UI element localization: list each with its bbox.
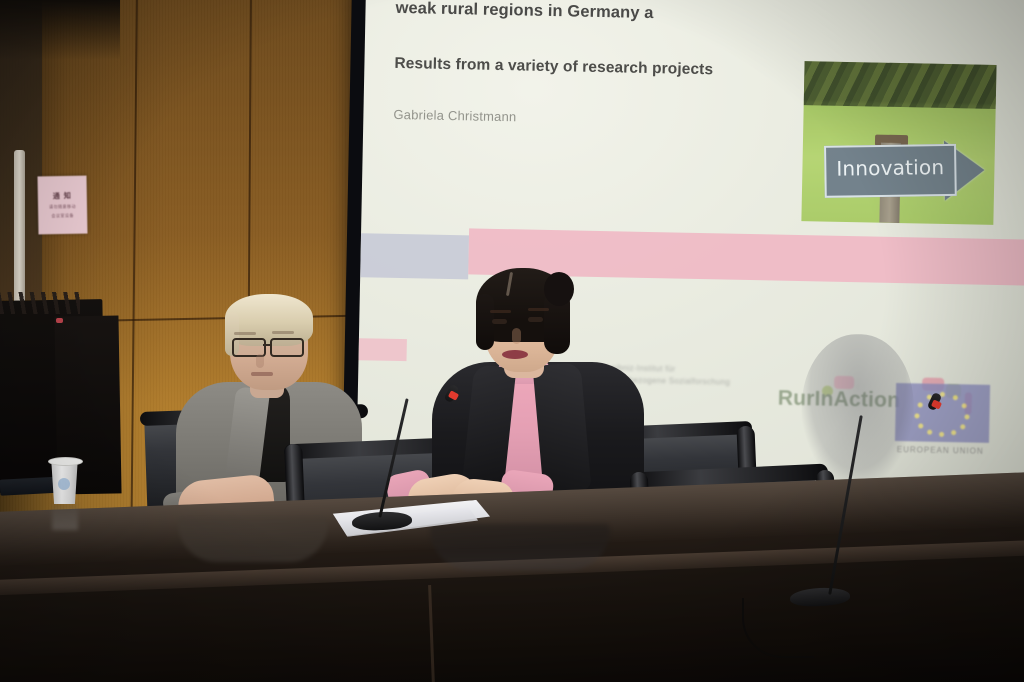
lens [270,338,304,357]
table-reflection-speaker [430,524,610,570]
table-reflection-cup [52,504,78,530]
eyebrow [234,332,256,335]
hedge-background [804,61,997,109]
slide-author: Gabriela Christmann [393,107,516,124]
slide-subtitle: Results from a variety of research proje… [394,55,864,82]
poster-line-1: 请勿随意移动 [49,204,76,210]
presenter-shadow-on-screen [800,333,915,485]
ceiling-shadow [0,0,120,60]
paper-cup-rim [48,457,83,466]
eyebrow [490,310,511,313]
cable-connector [56,318,63,323]
slide-title-line-2: weak rural regions in Germany a [395,0,865,30]
hair-bun [544,272,574,306]
eye [492,319,507,324]
eyeglasses-icon [230,338,306,353]
slide-title: On th weak rural regions in Germany a [395,0,866,30]
wall-seam [130,0,138,560]
mouth [251,372,273,376]
glasses-bridge [263,344,271,346]
innovation-photo: Innovation [801,61,996,225]
eyebrow [528,308,549,311]
poster-line-2: 会议室设备 [51,213,74,219]
innovation-signboard: Innovation [824,144,957,198]
nose [512,328,521,344]
poster-title: 通 知 [53,191,72,201]
nose [256,354,264,368]
table-reflection-person-left [178,518,328,562]
mouth [502,350,528,359]
paper-cup-logo [58,478,70,490]
eye [528,317,543,322]
wall-notice-poster: 通 知 请勿随意移动 会议室设备 [37,176,87,235]
eyebrow [272,331,294,334]
innovation-sign-label: Innovation [836,155,944,181]
cables [0,292,80,314]
conference-photo-scene: 通 知 请勿随意移动 会议室设备 On th weak rural region… [0,0,1024,682]
